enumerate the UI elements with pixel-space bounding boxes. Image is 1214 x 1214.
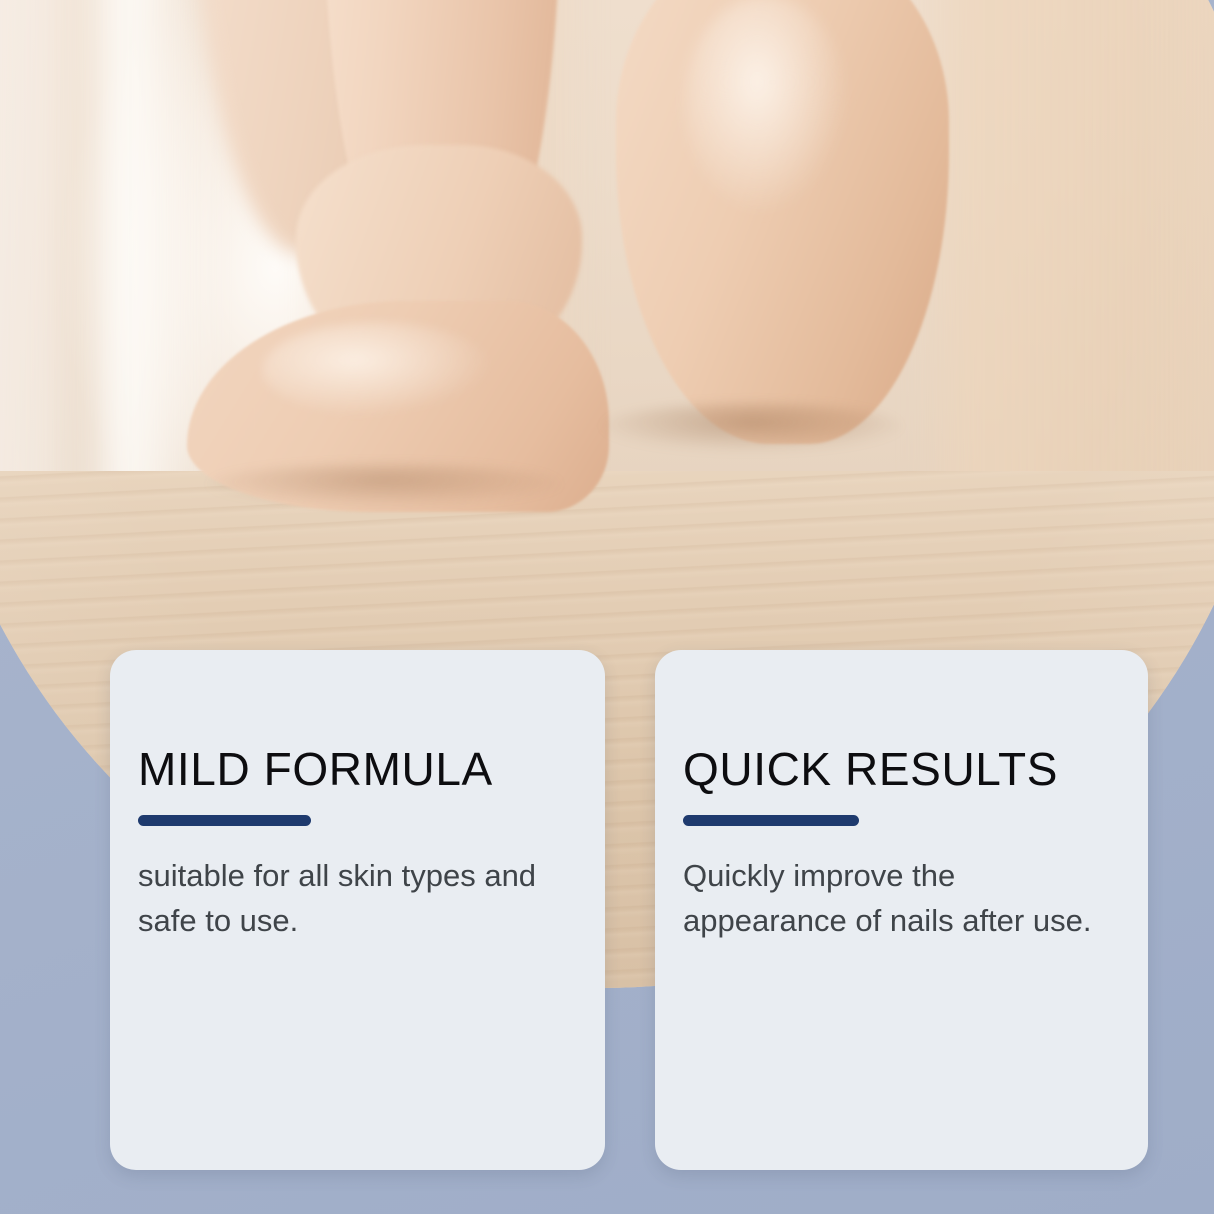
feature-card-body: suitable for all skin types and safe to …: [138, 853, 569, 943]
accent-bar: [138, 815, 311, 826]
feature-card-quick-results: QUICK RESULTS Quickly improve the appear…: [655, 650, 1148, 1170]
feature-card-mild-formula: MILD FORMULA suitable for all skin types…: [110, 650, 605, 1170]
product-feature-poster: MILD FORMULA suitable for all skin types…: [0, 0, 1214, 1214]
feature-card-body: Quickly improve the appearance of nails …: [683, 853, 1126, 943]
accent-bar: [683, 815, 859, 826]
feature-card-title: QUICK RESULTS: [683, 746, 1112, 792]
feature-card-title: MILD FORMULA: [138, 746, 569, 792]
